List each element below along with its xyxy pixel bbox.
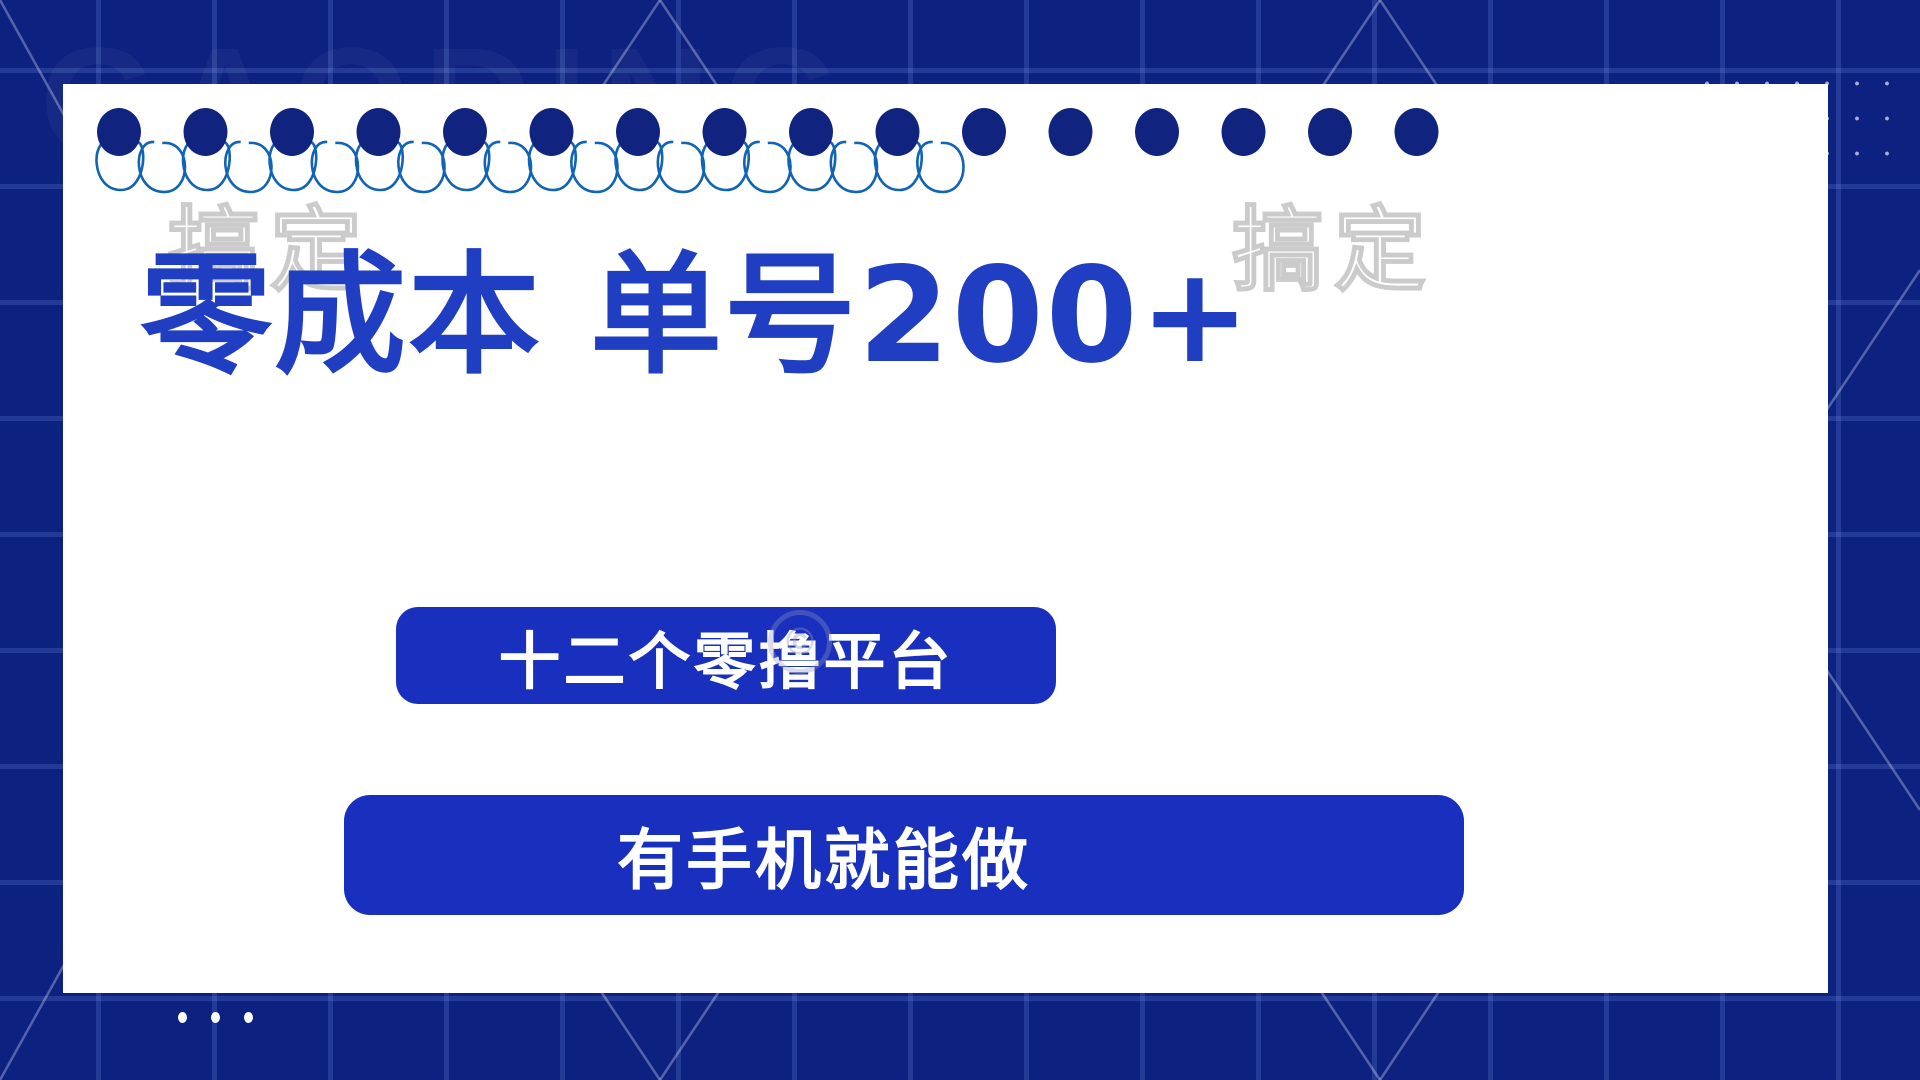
- headline-part-2: 单号200+: [590, 239, 1252, 393]
- bottom-dots: [178, 1012, 253, 1023]
- bottom-dot: [211, 1012, 220, 1023]
- poster-canvas: GAODING 搞定 搞定 零成本单号200+ 十二个零撸平台 © 有: [0, 0, 1920, 1080]
- pill-phone-only[interactable]: 有手机就能做: [344, 795, 1464, 915]
- headline-part-1: 零成本: [140, 239, 542, 393]
- page-title: 零成本单号200+: [140, 250, 1640, 382]
- pill-twelve-platforms[interactable]: 十二个零撸平台: [396, 607, 1056, 704]
- pill-2-label: 有手机就能做: [617, 807, 1191, 903]
- bottom-dot: [244, 1012, 253, 1023]
- pill-1-label: 十二个零撸平台: [498, 611, 953, 701]
- bottom-dot: [178, 1012, 187, 1023]
- copyright-watermark-icon: ©: [768, 610, 832, 674]
